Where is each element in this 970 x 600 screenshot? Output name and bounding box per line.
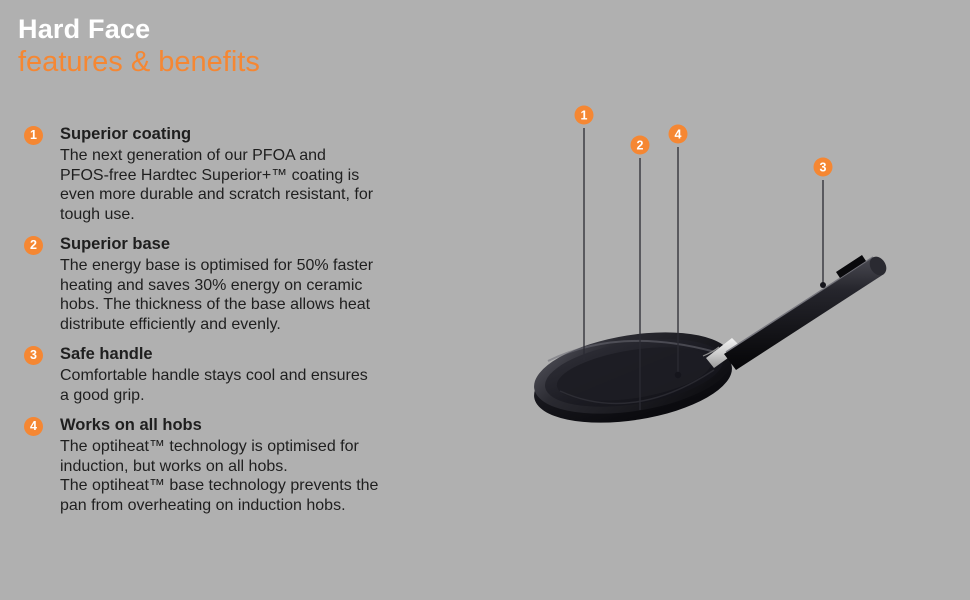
feature-badge-1: 1 <box>24 126 43 145</box>
callout-label-4: 4 <box>675 128 682 142</box>
callout-badge-1[interactable]: 1 <box>575 106 594 125</box>
feature-title-1: Superior coating <box>60 124 494 145</box>
header: Hard Face features & benefits <box>18 12 260 80</box>
feature-item-3: 3 Safe handle Comfortable handle stays c… <box>24 344 494 405</box>
feature-title-2: Superior base <box>60 234 494 255</box>
page-title: Hard Face <box>18 12 260 46</box>
product-illustration: 1 2 4 3 <box>500 80 960 460</box>
leader-dot-3 <box>820 282 826 288</box>
callout-badge-4[interactable]: 4 <box>669 125 688 144</box>
page-subtitle: features & benefits <box>18 44 260 80</box>
frying-pan-graphic: 1 2 4 3 <box>500 80 960 460</box>
feature-body-2: The energy base is optimised for 50% fas… <box>60 256 494 334</box>
feature-badge-2: 2 <box>24 236 43 255</box>
callout-badge-3[interactable]: 3 <box>814 158 833 177</box>
feature-body-3: Comfortable handle stays cool and ensure… <box>60 366 494 405</box>
feature-body-1: The next generation of our PFOA and PFOS… <box>60 146 494 224</box>
callout-badge-2[interactable]: 2 <box>631 136 650 155</box>
feature-item-2: 2 Superior base The energy base is optim… <box>24 234 494 334</box>
callout-label-2: 2 <box>637 139 644 153</box>
feature-item-4: 4 Works on all hobs The optiheat™ techno… <box>24 415 494 515</box>
infographic-page: Hard Face features & benefits 1 Superior… <box>0 0 970 600</box>
feature-title-3: Safe handle <box>60 344 494 365</box>
feature-badge-3: 3 <box>24 346 43 365</box>
feature-title-4: Works on all hobs <box>60 415 494 436</box>
feature-body-4: The optiheat™ technology is optimised fo… <box>60 437 494 515</box>
pan-body <box>528 320 737 435</box>
feature-list: 1 Superior coating The next generation o… <box>24 124 494 525</box>
leader-dot-4 <box>675 372 681 378</box>
callout-label-3: 3 <box>820 161 827 175</box>
feature-item-1: 1 Superior coating The next generation o… <box>24 124 494 224</box>
handle <box>724 254 890 370</box>
callout-label-1: 1 <box>581 109 588 123</box>
feature-badge-4: 4 <box>24 417 43 436</box>
handle-highlight <box>726 257 873 352</box>
